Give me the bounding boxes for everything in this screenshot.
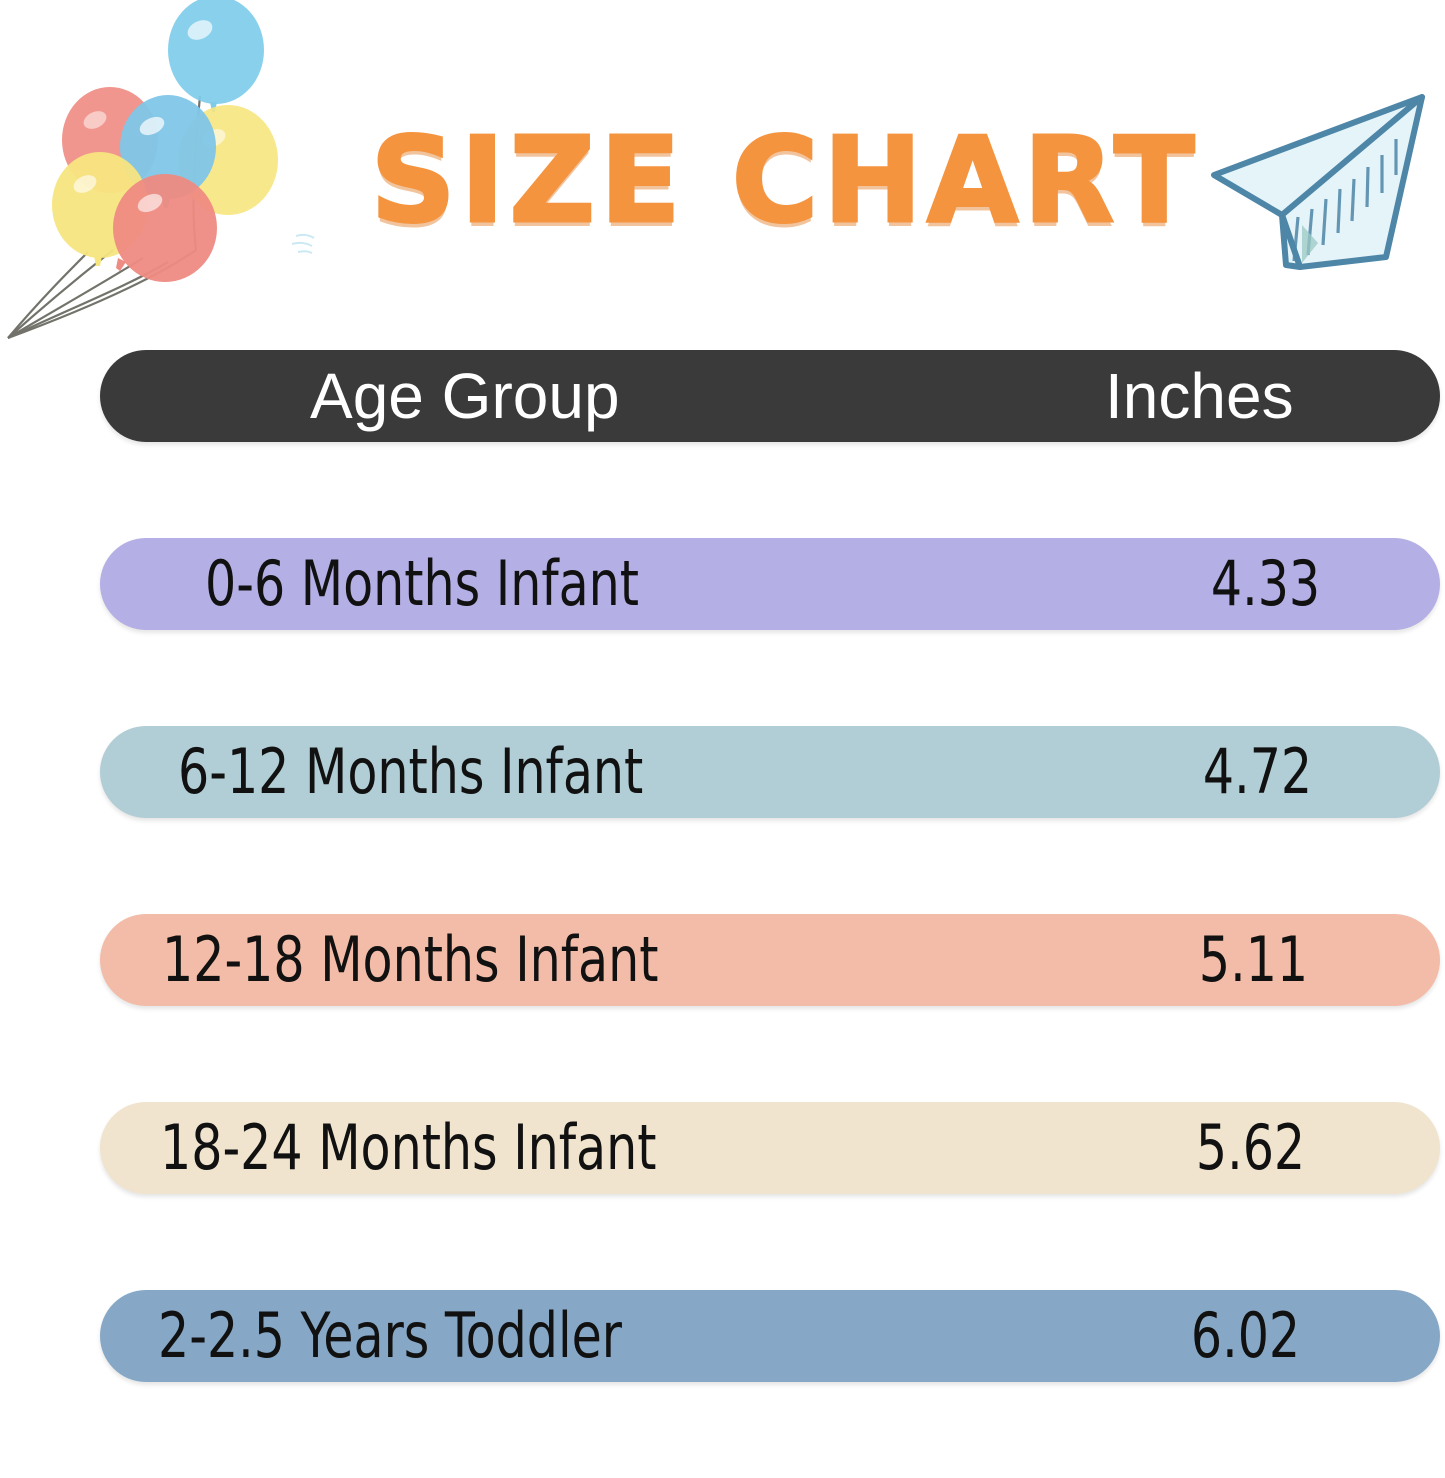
size-chart-table: Age Group Inches 0-6 Months Infant 4.33 … bbox=[100, 350, 1440, 1478]
table-row: 6-12 Months Infant 4.72 bbox=[100, 726, 1440, 818]
row-age-group: 6-12 Months Infant bbox=[178, 741, 643, 803]
column-header-inches: Inches bbox=[1105, 364, 1294, 428]
row-age-group: 18-24 Months Infant bbox=[160, 1117, 656, 1179]
balloon-cluster-icon bbox=[0, 0, 330, 345]
table-row: 12-18 Months Infant 5.11 bbox=[100, 914, 1440, 1006]
page-title-text: SIZE CHART bbox=[371, 121, 1200, 239]
table-row: 0-6 Months Infant 4.33 bbox=[100, 538, 1440, 630]
row-inches: 5.62 bbox=[1196, 1117, 1305, 1179]
row-inches: 6.02 bbox=[1191, 1305, 1300, 1367]
row-inches: 4.72 bbox=[1203, 741, 1312, 803]
table-row: 18-24 Months Infant 5.62 bbox=[100, 1102, 1440, 1194]
row-age-group: 0-6 Months Infant bbox=[205, 553, 639, 615]
page-title: SIZE CHART bbox=[400, 100, 1170, 260]
row-age-group: 12-18 Months Infant bbox=[162, 929, 658, 991]
table-header-row: Age Group Inches bbox=[100, 350, 1440, 442]
table-row: 2-2.5 Years Toddler 6.02 bbox=[100, 1290, 1440, 1382]
column-header-age-group: Age Group bbox=[310, 364, 620, 428]
paper-airplane-icon bbox=[1190, 75, 1440, 290]
row-age-group: 2-2.5 Years Toddler bbox=[158, 1305, 622, 1367]
row-inches: 5.11 bbox=[1199, 929, 1308, 991]
row-inches: 4.33 bbox=[1211, 553, 1320, 615]
